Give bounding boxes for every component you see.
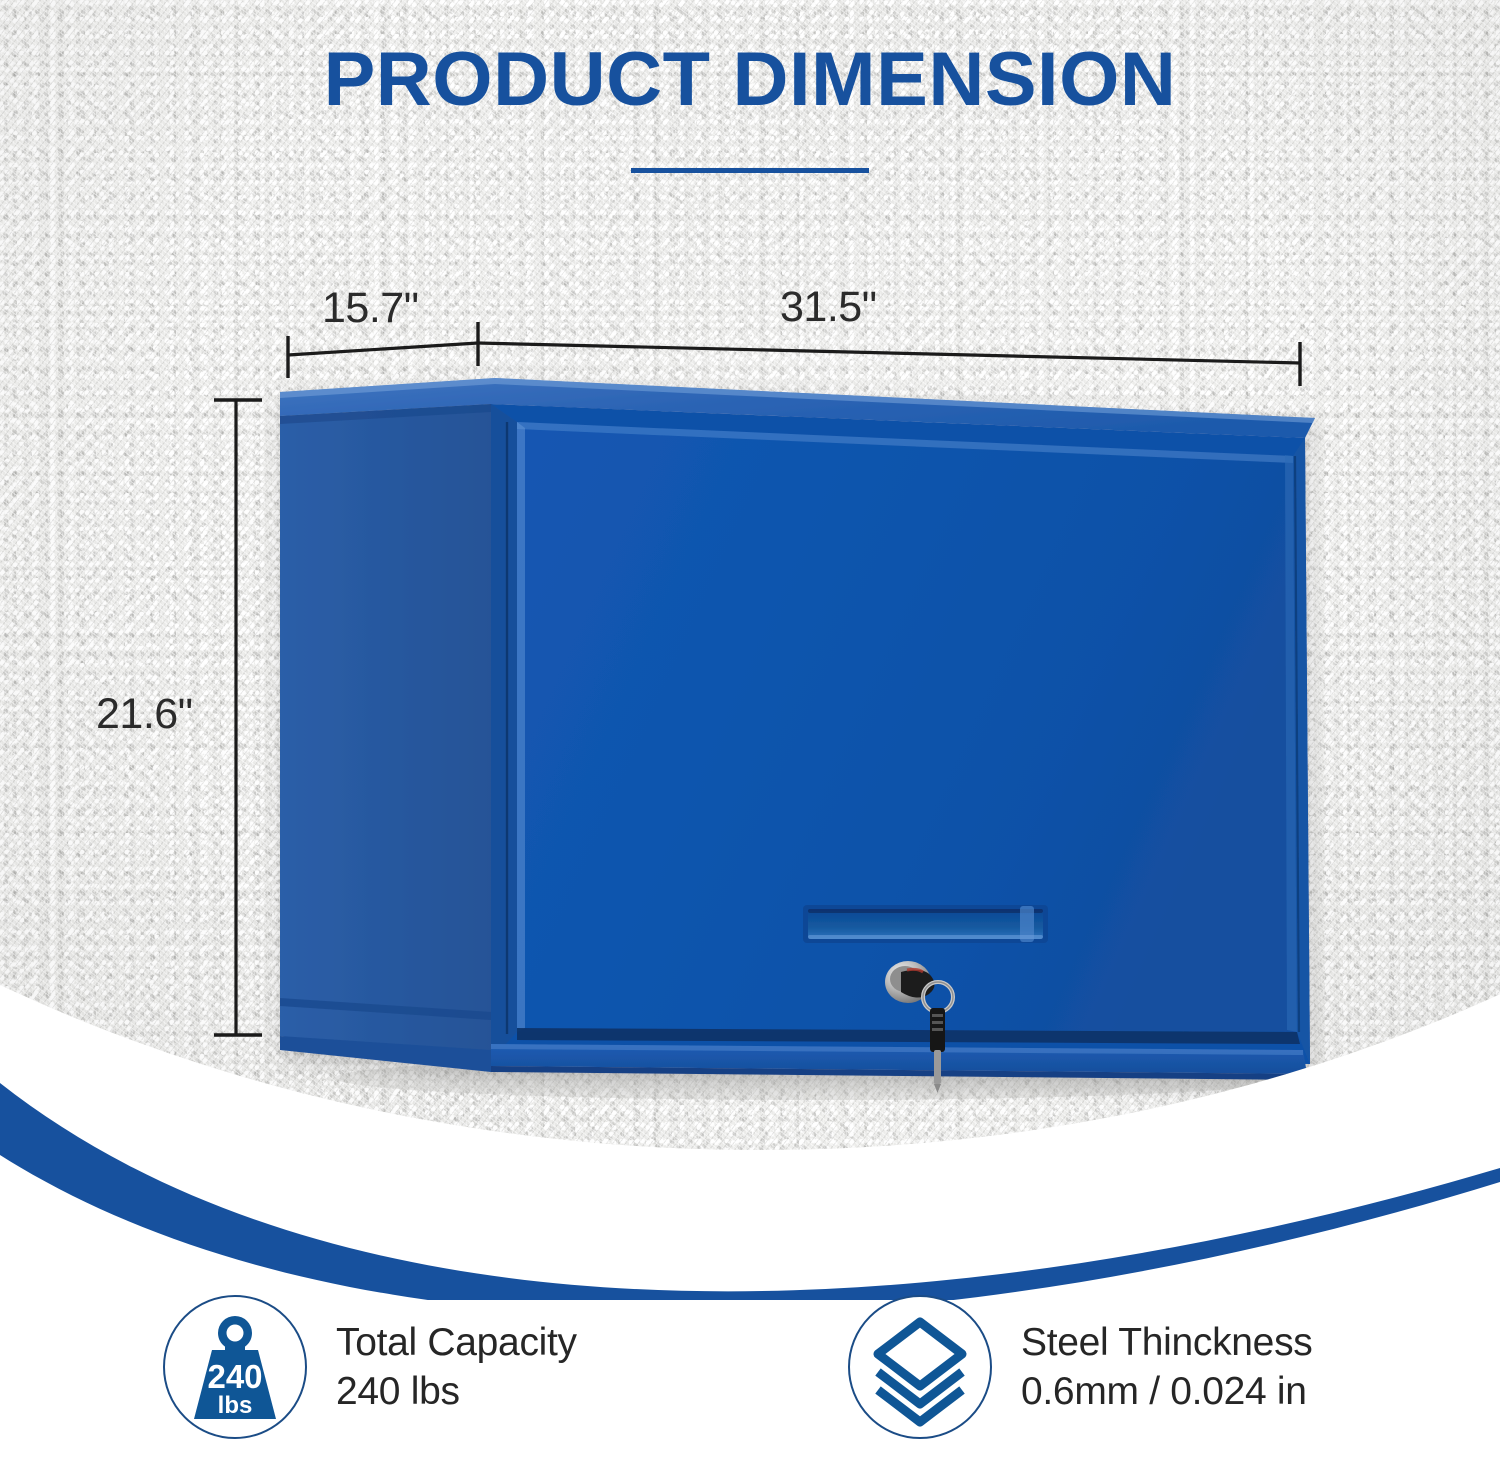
handle-top-shadow [808,909,1043,913]
feature-steel-thickness: Steel Thinckness 0.6mm / 0.024 in [845,1292,1312,1442]
product-image-cabinet [255,360,1330,1100]
feature-row: 240 lbs Total Capacity 240 lbs [0,1292,1500,1462]
product-photo-area: PRODUCT DIMENSION 15.7" 31.5" 21.6" [0,0,1500,1300]
depth-dimension-label: 15.7" [322,284,418,333]
feature-total-capacity: 240 lbs Total Capacity 240 lbs [160,1292,577,1442]
depth-dimension-line [288,343,478,355]
spare-key-blade [934,1050,941,1084]
spare-key-notch-1 [932,1014,943,1017]
feature-thickness-line2: 0.6mm / 0.024 in [1021,1367,1312,1416]
handle-inner [808,909,1043,939]
door-left-highlight [517,422,525,1032]
door-handle[interactable] [803,905,1048,943]
feature-thickness-text: Steel Thinckness 0.6mm / 0.024 in [1021,1318,1312,1416]
feature-capacity-text: Total Capacity 240 lbs [336,1318,577,1416]
weight-icon-unit: lbs [218,1392,253,1419]
product-dimension-infographic: PRODUCT DIMENSION 15.7" 31.5" 21.6" [0,0,1500,1472]
cabinet-side-panel [280,404,491,1060]
stacked-layers-icon [845,1292,995,1442]
feature-capacity-line1: Total Capacity [336,1318,577,1367]
weight-240lbs-icon: 240 lbs [160,1292,310,1442]
handle-bottom-highlight [808,935,1043,939]
feature-thickness-line1: Steel Thinckness [1021,1318,1312,1367]
feature-capacity-line2: 240 lbs [336,1367,577,1416]
width-dimension-label: 31.5" [780,283,876,332]
spare-key-notch-2 [932,1021,943,1024]
height-dimension-label: 21.6" [96,690,192,739]
spare-key-notch-3 [932,1028,943,1031]
door-left-frame [491,404,517,1060]
weight-handle-hole [227,1325,244,1342]
weight-icon-number: 240 [207,1358,262,1395]
